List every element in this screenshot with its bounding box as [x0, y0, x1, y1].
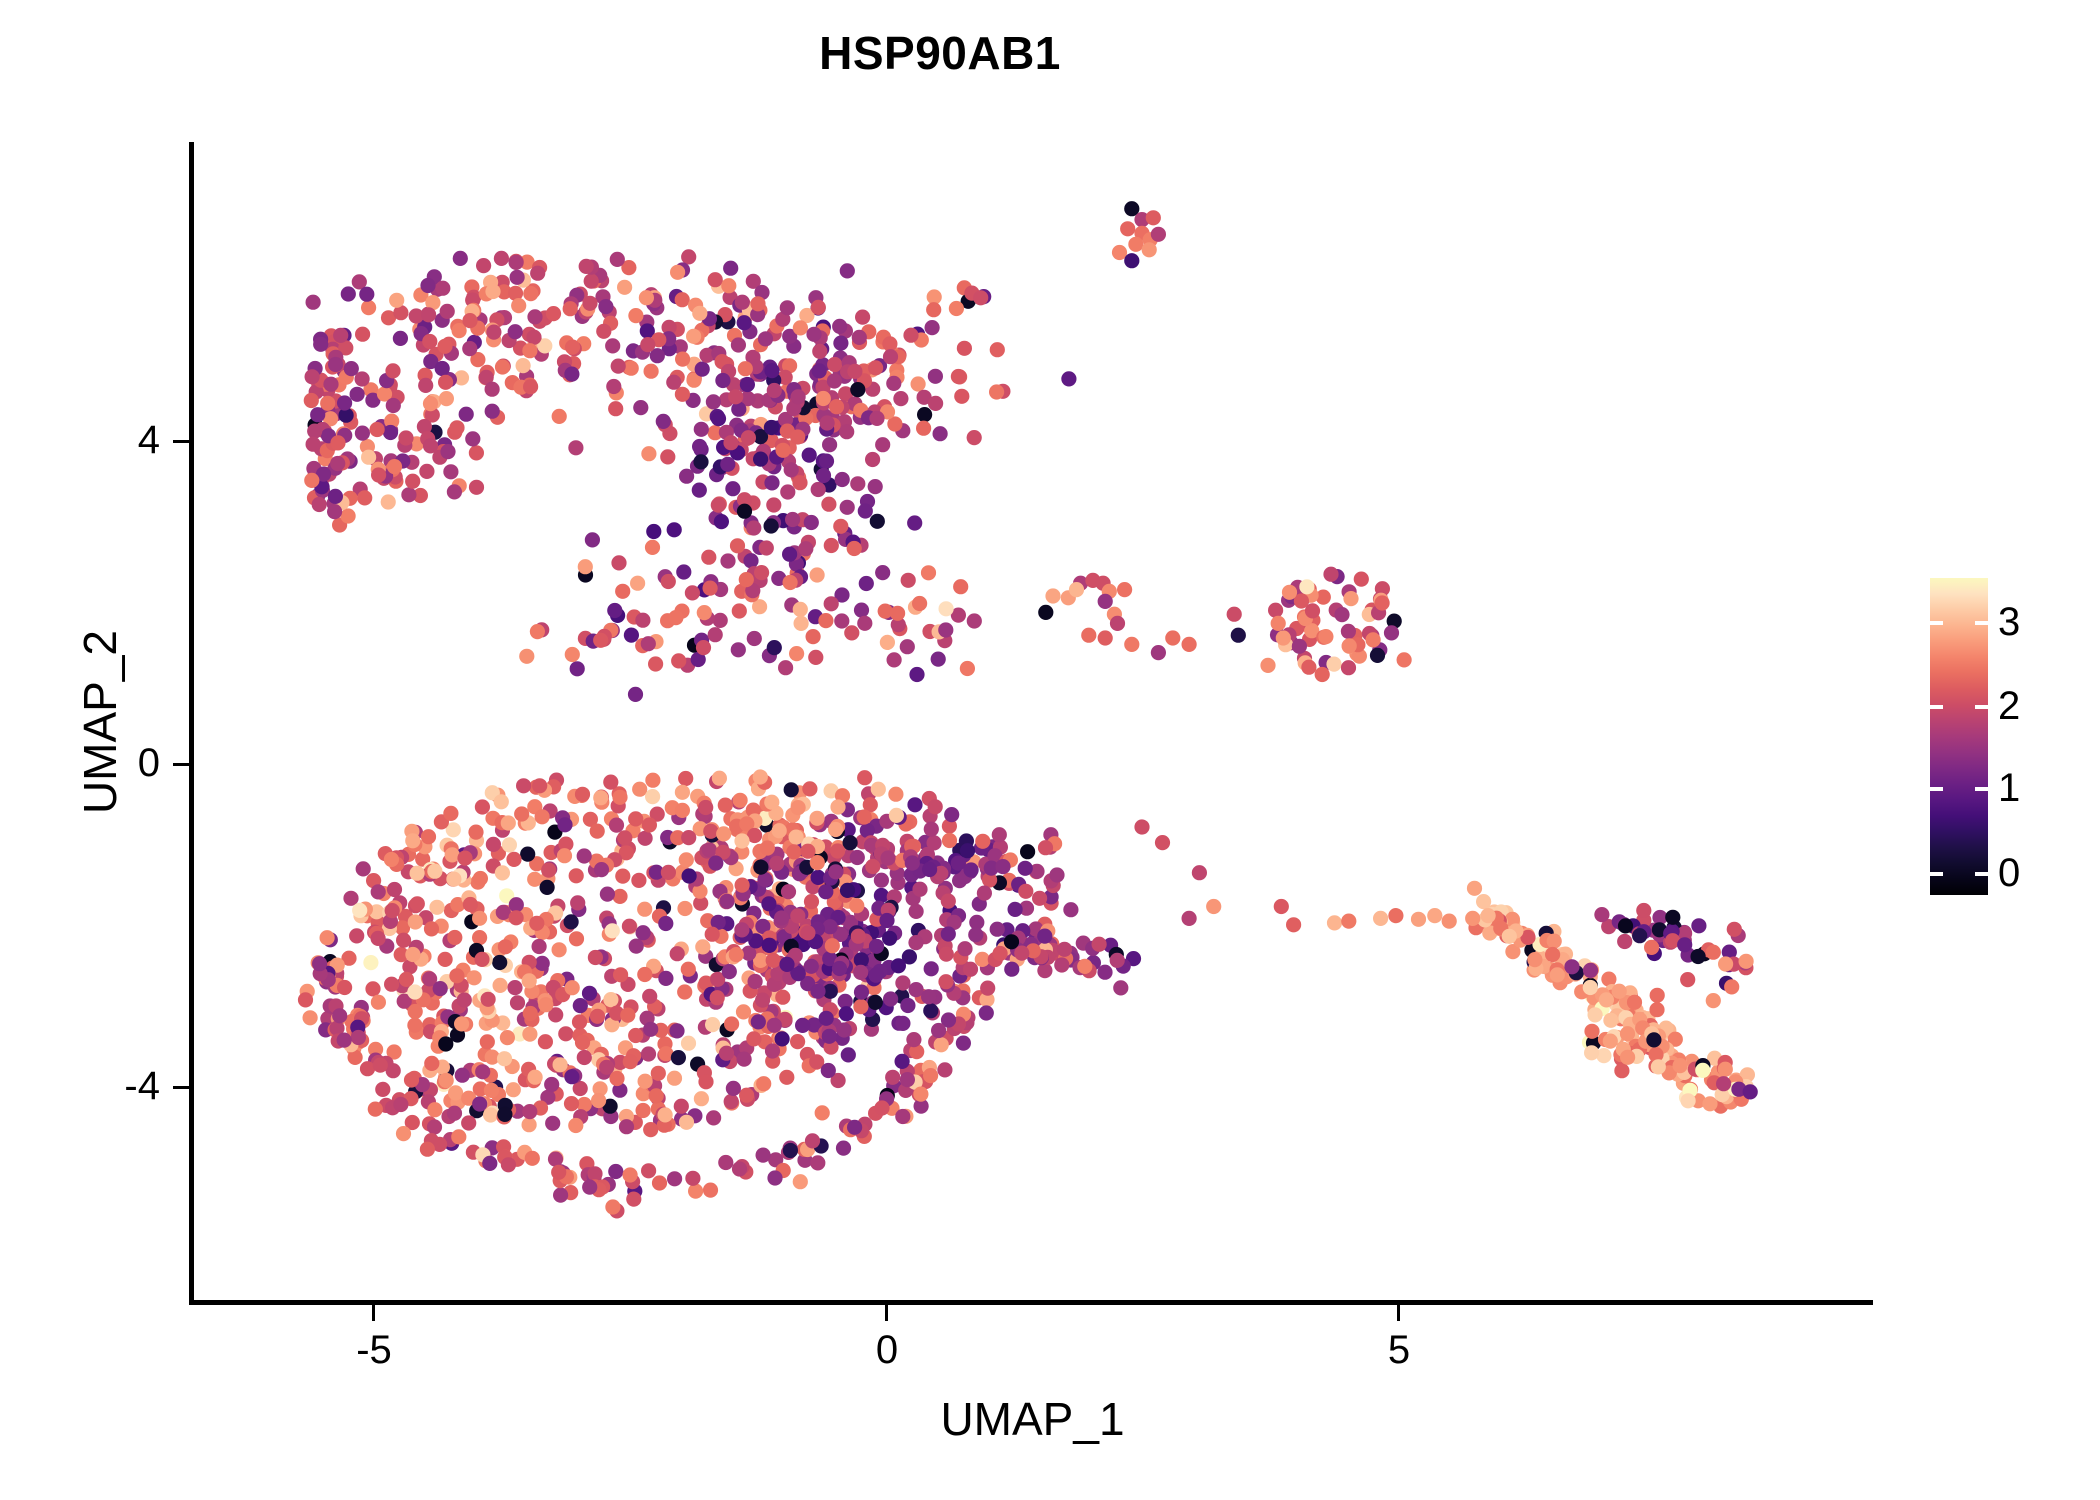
colorbar-tick — [1975, 787, 1988, 791]
colorbar-tick — [1930, 621, 1943, 625]
colorbar-tick-label: 0 — [1998, 851, 2068, 896]
y-tick-mark — [173, 440, 189, 443]
colorbar-tick — [1975, 621, 1988, 625]
plot-panel — [193, 142, 1872, 1302]
x-axis-title: UMAP_1 — [193, 1392, 1872, 1446]
x-tick-mark — [1397, 1305, 1400, 1321]
colorbar-tick — [1930, 705, 1943, 709]
colorbar-tick-label: 1 — [1998, 766, 2068, 811]
y-tick-mark — [173, 763, 189, 766]
colorbar-legend — [1930, 578, 1988, 895]
colorbar-tick — [1975, 872, 1988, 876]
x-tick-label: 0 — [827, 1328, 947, 1373]
umap-feature-plot: HSP90AB1 -5 0 5 4 0 -4 UMAP_1 UMAP_2 3 2… — [0, 0, 2100, 1500]
x-tick-label: -5 — [314, 1328, 434, 1373]
page-title: HSP90AB1 — [0, 26, 1880, 80]
colorbar-tick — [1930, 787, 1943, 791]
colorbar-tick-label: 3 — [1998, 600, 2068, 645]
x-tick-label: 5 — [1339, 1328, 1459, 1373]
colorbar-tick — [1930, 872, 1943, 876]
y-axis-title: UMAP_2 — [73, 322, 127, 1122]
colorbar-gradient — [1930, 578, 1988, 895]
x-tick-mark — [372, 1305, 375, 1321]
scatter-points-layer — [193, 142, 1872, 1302]
x-tick-mark — [885, 1305, 888, 1321]
colorbar-tick-label: 2 — [1998, 684, 2068, 729]
y-tick-mark — [173, 1086, 189, 1089]
colorbar-tick — [1975, 705, 1988, 709]
